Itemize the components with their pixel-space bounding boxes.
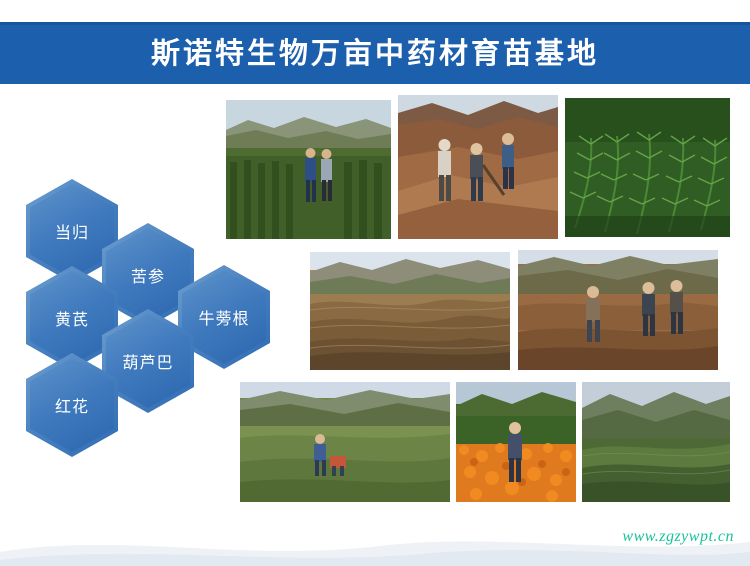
photo-trench-digging xyxy=(398,95,558,239)
photo-safflower-field-art xyxy=(456,382,576,502)
photo-valley-fields-art xyxy=(582,382,730,502)
photo-field-labor-art xyxy=(518,250,718,370)
page-title: 斯诺特生物万亩中药材育苗基地 xyxy=(0,22,750,84)
slide-canvas: 斯诺特生物万亩中药材育苗基地 当归 苦参 黄芪 牛蒡根 葫芦巴 红花 xyxy=(0,0,750,566)
hex-label: 葫芦巴 xyxy=(122,349,173,373)
hex-label: 苦参 xyxy=(131,263,165,287)
photo-trench-digging-art xyxy=(398,95,558,239)
hex-label: 黄芪 xyxy=(55,306,89,330)
photo-green-seedlings-art xyxy=(565,98,730,237)
hex-label: 当归 xyxy=(55,219,89,243)
photo-terraced-hillside-art xyxy=(310,252,510,370)
hex-label: 红花 xyxy=(55,393,89,417)
photo-meadow-worker-art xyxy=(240,382,450,502)
photo-field-labor xyxy=(518,250,718,370)
photo-valley-fields xyxy=(582,382,730,502)
photo-crop-field-workers-art xyxy=(226,100,391,239)
hex-label: 牛蒡根 xyxy=(198,305,249,329)
watermark-url: www.zgzywpt.cn xyxy=(622,528,734,546)
photo-safflower-field xyxy=(456,382,576,502)
photo-terraced-hillside xyxy=(310,252,510,370)
photo-green-seedlings xyxy=(565,98,730,237)
photo-meadow-worker xyxy=(240,382,450,502)
photo-crop-field-workers xyxy=(226,100,391,239)
